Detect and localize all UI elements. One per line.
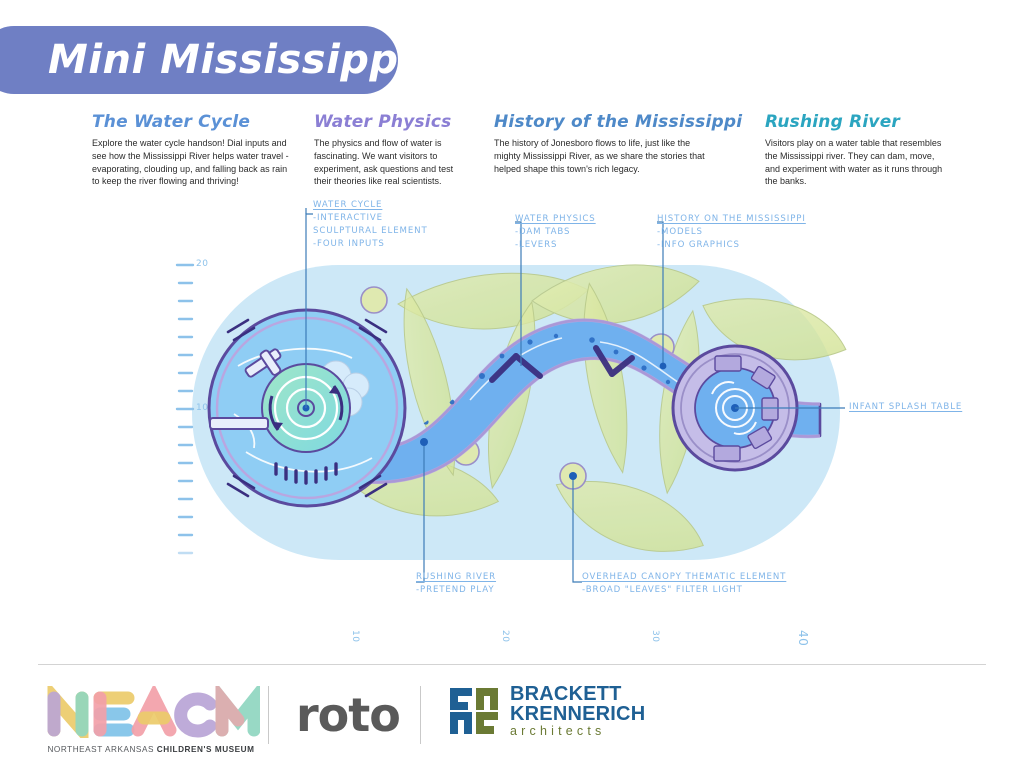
callout-line: -INFO GRAPHICS xyxy=(657,239,806,252)
section-body: The physics and flow of water is fascina… xyxy=(314,137,469,188)
callout-title: OVERHEAD CANOPY THEMATIC ELEMENT xyxy=(582,571,786,584)
neacm-subtitle: NORTHEAST ARKANSAS CHILDREN'S MUSEUM xyxy=(42,745,260,754)
callout-title: HISTORY ON THE MISSISSIPPI xyxy=(657,213,806,226)
brackett-text: BRACKETT KRENNERICH architects xyxy=(510,684,645,738)
water-cycle-pod[interactable] xyxy=(209,310,405,506)
brackett-line2: KRENNERICH xyxy=(510,704,645,724)
section-blurbs: The Water Cycle Explore the water cycle … xyxy=(0,112,1024,192)
section-title: Rushing River xyxy=(765,112,955,132)
callout-infant-splash-table: INFANT SPLASH TABLE xyxy=(849,401,962,414)
hruler-label-30: 30 xyxy=(650,630,660,642)
section-title: History of the Mississippi xyxy=(494,112,734,132)
hruler-label-10: 10 xyxy=(350,630,360,642)
callout-rushing-river: RUSHING RIVER -PRETEND PLAY xyxy=(416,571,496,597)
callout-line: -LEVERS xyxy=(515,239,596,252)
callout-line: -MODELS xyxy=(657,226,806,239)
neacm-wordmark-icon xyxy=(42,686,260,738)
section-body: Explore the water cycle handson! Dial in… xyxy=(92,137,297,188)
callout-title: RUSHING RIVER xyxy=(416,571,496,584)
vruler-label-10: 10 xyxy=(196,403,208,413)
section-rushing-river: Rushing River Visitors play on a water t… xyxy=(765,112,955,188)
header-bar: Mini Mississippi xyxy=(0,26,398,94)
section-body: Visitors play on a water table that rese… xyxy=(765,137,943,188)
section-body: The history of Jonesboro flows to life, … xyxy=(494,137,716,175)
callout-title: INFANT SPLASH TABLE xyxy=(849,401,962,414)
callout-water-physics: WATER PHYSICS -DAM TABS -LEVERS xyxy=(515,213,596,252)
callout-title: WATER PHYSICS xyxy=(515,213,596,226)
callout-line: -INTERACTIVE xyxy=(313,212,428,225)
callout-overhead-canopy: OVERHEAD CANOPY THEMATIC ELEMENT -BROAD … xyxy=(582,571,786,597)
neacm-subtitle-bold: CHILDREN'S MUSEUM xyxy=(157,745,255,754)
section-water-physics: Water Physics The physics and flow of wa… xyxy=(314,112,484,188)
callout-line: SCULPTURAL ELEMENT xyxy=(313,225,428,238)
vruler-label-20: 20 xyxy=(196,259,208,269)
callout-line: -BROAD "LEAVES" FILTER LIGHT xyxy=(582,584,786,597)
logo-roto: roto xyxy=(296,692,400,738)
section-history: History of the Mississippi The history o… xyxy=(494,112,734,175)
brackett-line3: architects xyxy=(510,725,645,738)
vertical-ruler xyxy=(177,265,193,553)
brackett-mark-icon xyxy=(448,686,500,736)
callout-history-on-the-mississippi: HISTORY ON THE MISSISSIPPI -MODELS -INFO… xyxy=(657,213,806,252)
callout-line: -PRETEND PLAY xyxy=(416,584,496,597)
neacm-subtitle-normal: NORTHEAST ARKANSAS xyxy=(47,745,156,754)
footer-divider-1 xyxy=(268,686,269,744)
callout-line: -DAM TABS xyxy=(515,226,596,239)
footer-divider-2 xyxy=(420,686,421,744)
brackett-line1: BRACKETT xyxy=(510,684,645,704)
site-plan-diagram xyxy=(0,190,1024,610)
callout-water-cycle: WATER CYCLE -INTERACTIVE SCULPTURAL ELEM… xyxy=(313,199,428,251)
page-title: Mini Mississippi xyxy=(48,37,413,83)
callout-title: WATER CYCLE xyxy=(313,199,428,212)
hruler-label-20: 20 xyxy=(500,630,510,642)
logo-brackett-krennerich: BRACKETT KRENNERICH architects xyxy=(448,684,645,738)
hruler-label-40: 40 xyxy=(796,630,810,646)
callout-line: -FOUR INPUTS xyxy=(313,238,428,251)
logo-neacm: NORTHEAST ARKANSAS CHILDREN'S MUSEUM xyxy=(42,686,260,754)
poster-page: Mini Mississippi The Water Cycle Explore… xyxy=(0,0,1024,768)
section-title: The Water Cycle xyxy=(92,112,307,132)
section-water-cycle: The Water Cycle Explore the water cycle … xyxy=(92,112,307,188)
section-title: Water Physics xyxy=(314,112,484,132)
footer-divider-rule xyxy=(38,664,986,665)
